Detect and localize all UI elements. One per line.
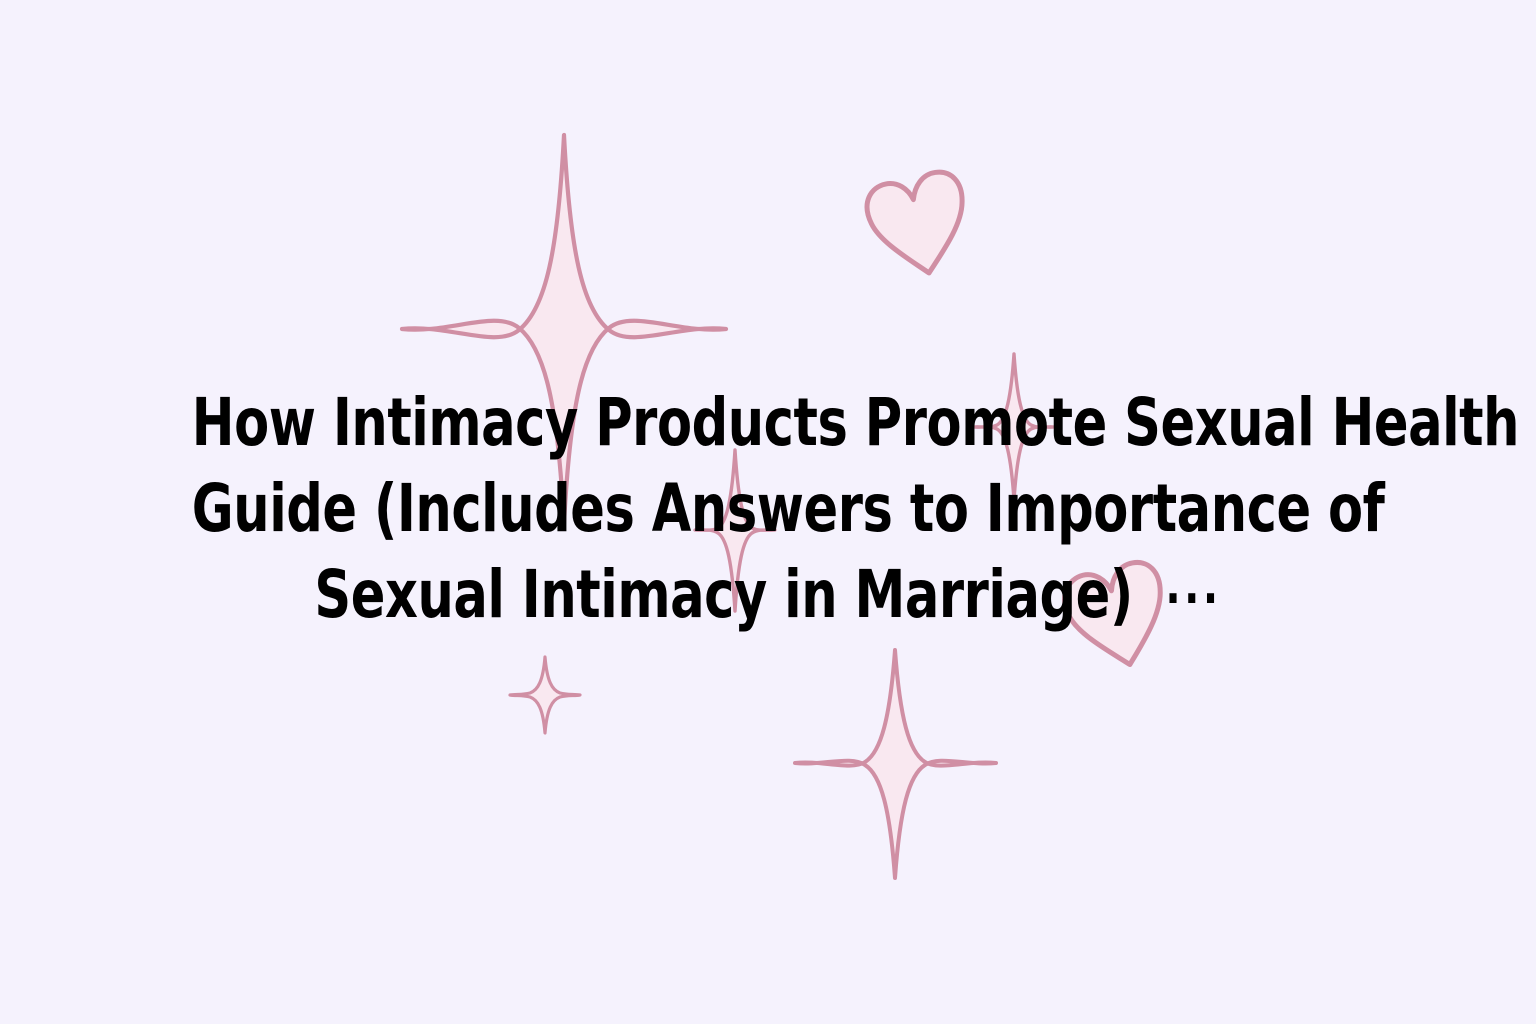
sparkle-icon-large-bottom [793, 648, 998, 880]
title-line-3-wrapper: Sexual Intimacy in Marriage)··· [192, 552, 1344, 642]
title-line-3: Sexual Intimacy in Marriage) [314, 556, 1132, 633]
title-line-1: How Intimacy Products Promote Sexual Hea… [192, 380, 1344, 466]
heart-icon-top-right [854, 162, 984, 291]
social-card: How Intimacy Products Promote Sexual Hea… [0, 0, 1536, 1024]
title-line-2: Guide (Includes Answers to Importance of [192, 466, 1344, 552]
sparkle-icon-small-bottom-left [508, 655, 582, 735]
title-ellipsis: ··· [1133, 569, 1222, 629]
page-title: How Intimacy Products Promote Sexual Hea… [0, 380, 1536, 642]
